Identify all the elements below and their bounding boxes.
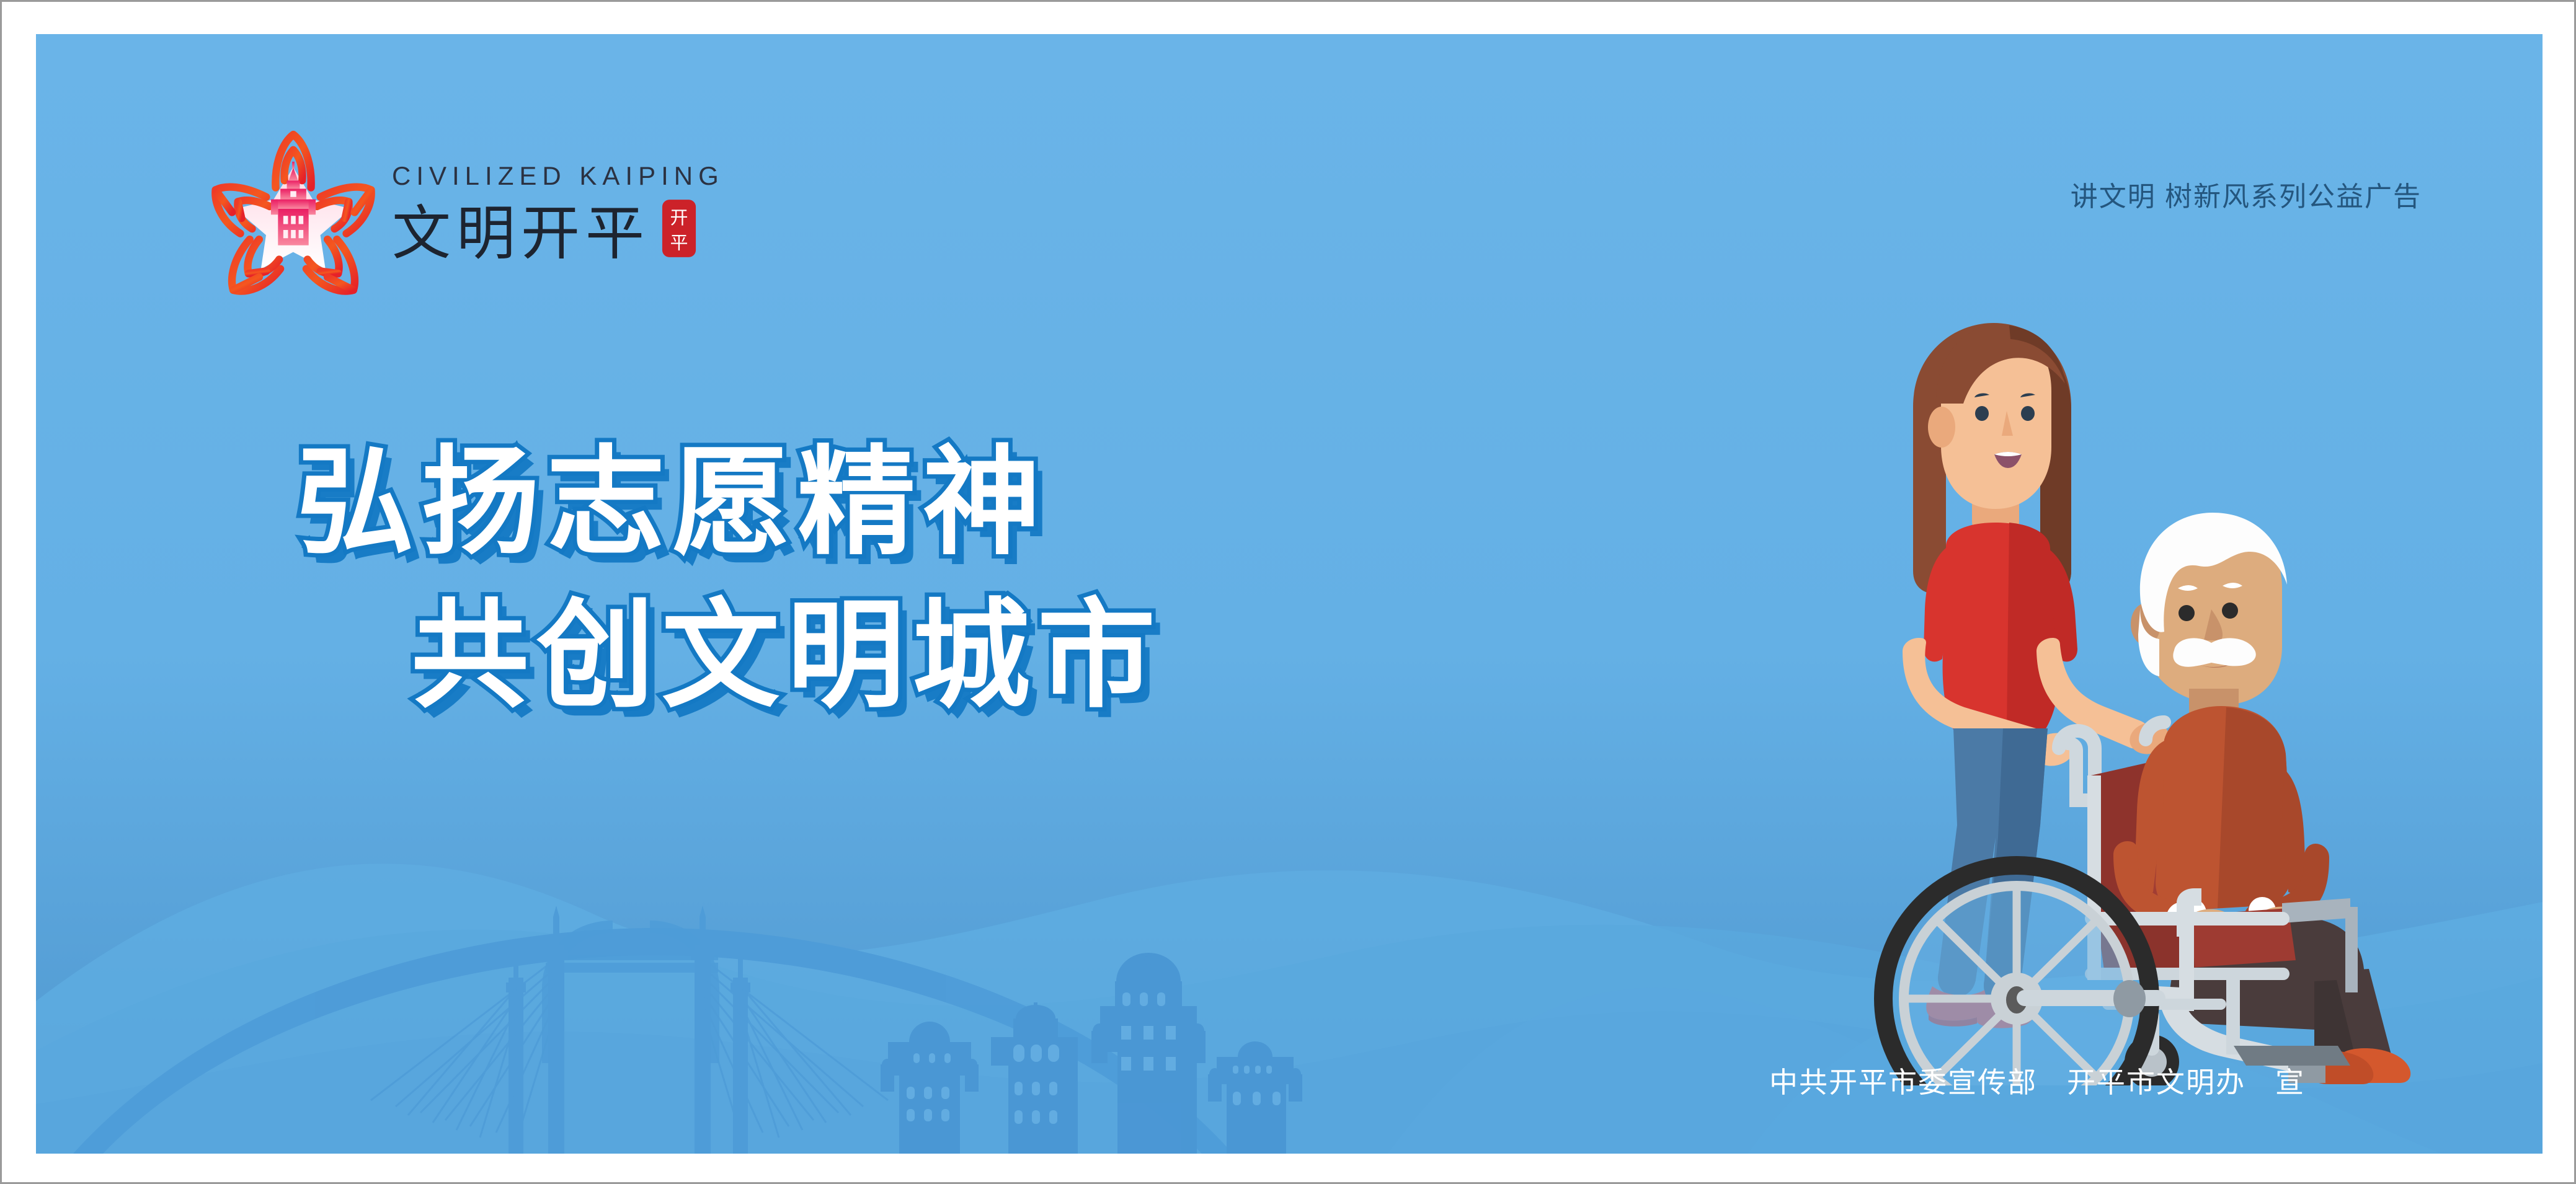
logo-english-text: CIVILIZED KAIPING (392, 163, 724, 189)
svg-text:开: 开 (670, 206, 688, 228)
bauhinia-flower-logo-icon (203, 124, 383, 301)
publisher-credit: 中共开平市委宣传部 开平市文明办 宣 (1769, 1060, 2305, 1101)
series-label: 讲文明 树新风系列公益广告 (2071, 174, 2422, 214)
headline-line-1: 弘扬志愿精神 (296, 426, 1475, 579)
volunteer-pushing-elderly-in-wheelchair-illustration (1854, 280, 2474, 1085)
poster-canvas: CIVILIZED KAIPING 文明开平 开 平 讲文明 树新风系列公益广告… (36, 34, 2543, 1154)
headline-line-2: 共创文明城市 (411, 579, 1475, 732)
civilized-kaiping-logo[interactable]: CIVILIZED KAIPING 文明开平 开 平 (203, 124, 724, 301)
svg-text:平: 平 (670, 232, 688, 253)
logo-chinese-text: 文明开平 (392, 206, 650, 262)
page-frame: CIVILIZED KAIPING 文明开平 开 平 讲文明 树新风系列公益广告… (2, 2, 2574, 1182)
kaiping-seal-icon: 开 平 (661, 198, 697, 258)
logo-wordmark: CIVILIZED KAIPING 文明开平 开 平 (392, 163, 724, 262)
headline-block: 弘扬志愿精神 共创文明城市 (296, 426, 1475, 732)
